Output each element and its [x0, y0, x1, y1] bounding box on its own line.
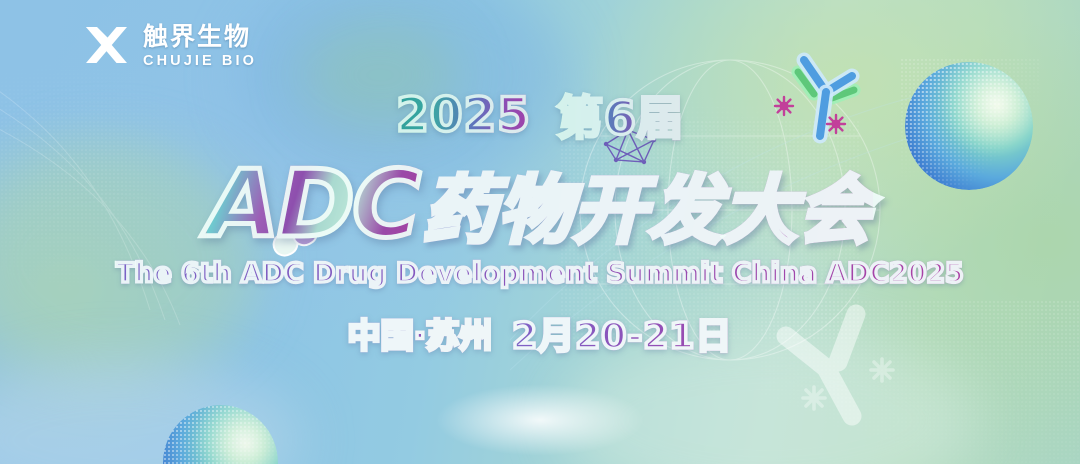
brand-wordmark: 触界生物 CHUJIE BIO — [143, 24, 257, 69]
date-halo-glow — [435, 384, 645, 456]
headline-block: 2025 第6届 ADC 药物开发大会 The 6th ADC Drug Dev… — [0, 84, 1080, 359]
gradient-sphere-bottom-left — [163, 405, 278, 464]
subtitle-english: The 6th ADC Drug Development Summit Chin… — [116, 258, 964, 289]
event-date: 2月20-21日 — [512, 307, 732, 359]
year-2025: 2025 — [396, 88, 531, 143]
conference-banner: 触界生物 CHUJIE BIO 2025 第6届 ADC 药物开发大会 The … — [0, 0, 1080, 464]
main-title-row: ADC 药物开发大会 — [0, 152, 1080, 256]
brand-name-en: CHUJIE BIO — [143, 54, 257, 69]
event-location: 中国·苏州 — [348, 309, 493, 357]
edition-label: 第6届 — [557, 82, 684, 148]
edition-row: 2025 第6届 — [0, 84, 1080, 146]
brand-logo[interactable]: 触界生物 CHUJIE BIO — [84, 22, 257, 70]
x-chevron-logo-icon — [84, 22, 130, 70]
brand-name-cn: 触界生物 — [143, 24, 257, 49]
title-adc: ADC — [207, 150, 418, 258]
date-location-row: 中国·苏州 2月20-21日 — [0, 307, 1080, 359]
title-cn: 药物开发大会 — [423, 151, 873, 258]
subtitle-row: The 6th ADC Drug Development Summit Chin… — [0, 258, 1080, 289]
